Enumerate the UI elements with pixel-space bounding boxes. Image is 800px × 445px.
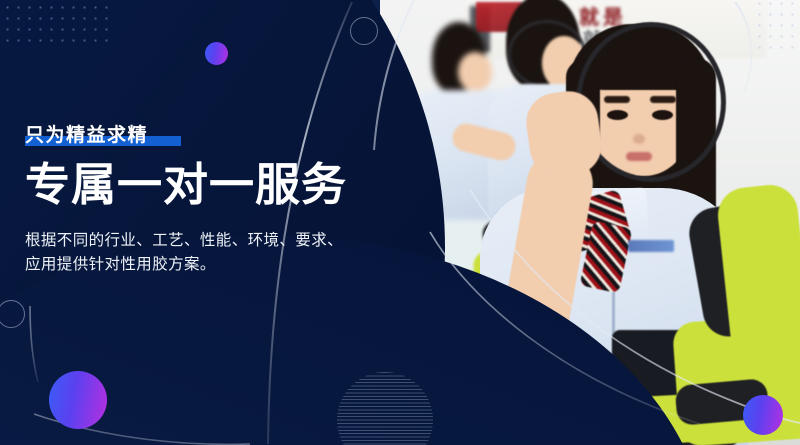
gradient-circle-bottom-right xyxy=(743,395,783,435)
photo-person-front-logo xyxy=(628,240,674,252)
subtitle-line-2: 应用提供针对性用胶方案。 xyxy=(25,252,385,276)
ring-outline-top xyxy=(350,17,378,45)
dot-grid-top-left xyxy=(2,2,114,46)
tagline-text: 只为精益求精 xyxy=(25,124,148,146)
headline: 专属一对一服务 xyxy=(25,161,385,208)
tagline-badge: 只为精益求精 xyxy=(25,120,148,147)
photo-person-back-face xyxy=(458,52,492,92)
subtitle-line-1: 根据不同的行业、工艺、性能、环境、要求、 xyxy=(25,228,385,252)
dot-grid-top-right xyxy=(754,0,800,56)
promo-banner: 努力 就是 不努力就是淡季 xyxy=(0,0,800,445)
text-block: 只为精益求精 专属一对一服务 根据不同的行业、工艺、性能、环境、要求、 应用提供… xyxy=(25,120,385,276)
gradient-circle-top xyxy=(205,42,228,65)
subtitle: 根据不同的行业、工艺、性能、环境、要求、 应用提供针对性用胶方案。 xyxy=(25,228,385,276)
gradient-circle-bottom-left xyxy=(49,371,107,429)
